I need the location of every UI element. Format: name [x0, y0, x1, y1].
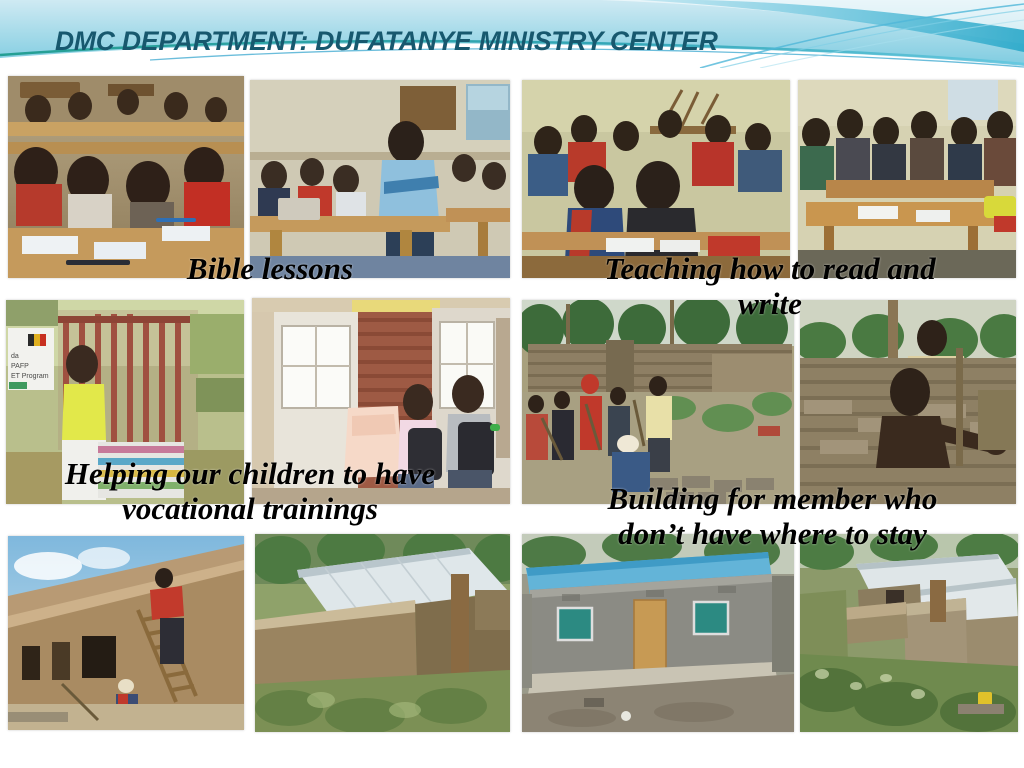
photo-image — [522, 80, 790, 278]
photo-image — [250, 80, 510, 278]
photo-image — [255, 534, 510, 732]
photo-image — [522, 300, 794, 504]
photo-image — [798, 80, 1016, 278]
page-title: DMC DEPARTMENT: DUFATANYE MINISTRY CENTE… — [55, 26, 718, 57]
photo-man-ladder-mud-house — [8, 536, 244, 730]
svg-text:PAFP: PAFP — [11, 363, 29, 370]
caption-bible-lessons: Bible lessons — [60, 252, 480, 287]
slide-header-banner: DMC DEPARTMENT: DUFATANYE MINISTRY CENTE… — [0, 0, 1024, 68]
photo-adult-literacy-class — [522, 80, 790, 278]
photo-image — [8, 76, 244, 278]
photo-image — [8, 536, 244, 730]
svg-text:da: da — [11, 353, 19, 360]
caption-building-members: Building for member who don’t have where… — [545, 482, 1000, 551]
photo-metal-roof-new-house — [255, 534, 510, 732]
caption-vocational-trainings: Helping our children to have vocational … — [10, 457, 490, 526]
photo-classroom-teacher-blue-shirt — [250, 80, 510, 278]
svg-text:ET Program: ET Program — [11, 373, 49, 380]
photo-house-silver-roofs — [800, 534, 1018, 732]
photo-finished-house-blue-roof — [522, 534, 794, 732]
photo-image — [800, 300, 1016, 504]
photo-classroom-children-writing — [8, 76, 244, 278]
photo-classroom-desks-papers — [798, 80, 1016, 278]
photo-brick-wall-construction-group — [522, 300, 794, 504]
photo-mason-laying-bricks — [800, 300, 1016, 504]
photo-image — [800, 534, 1018, 732]
photo-image — [522, 534, 794, 732]
presentation-slide: DMC DEPARTMENT: DUFATANYE MINISTRY CENTE… — [0, 0, 1024, 768]
caption-teaching-read-write: Teaching how to read and write — [545, 252, 995, 321]
